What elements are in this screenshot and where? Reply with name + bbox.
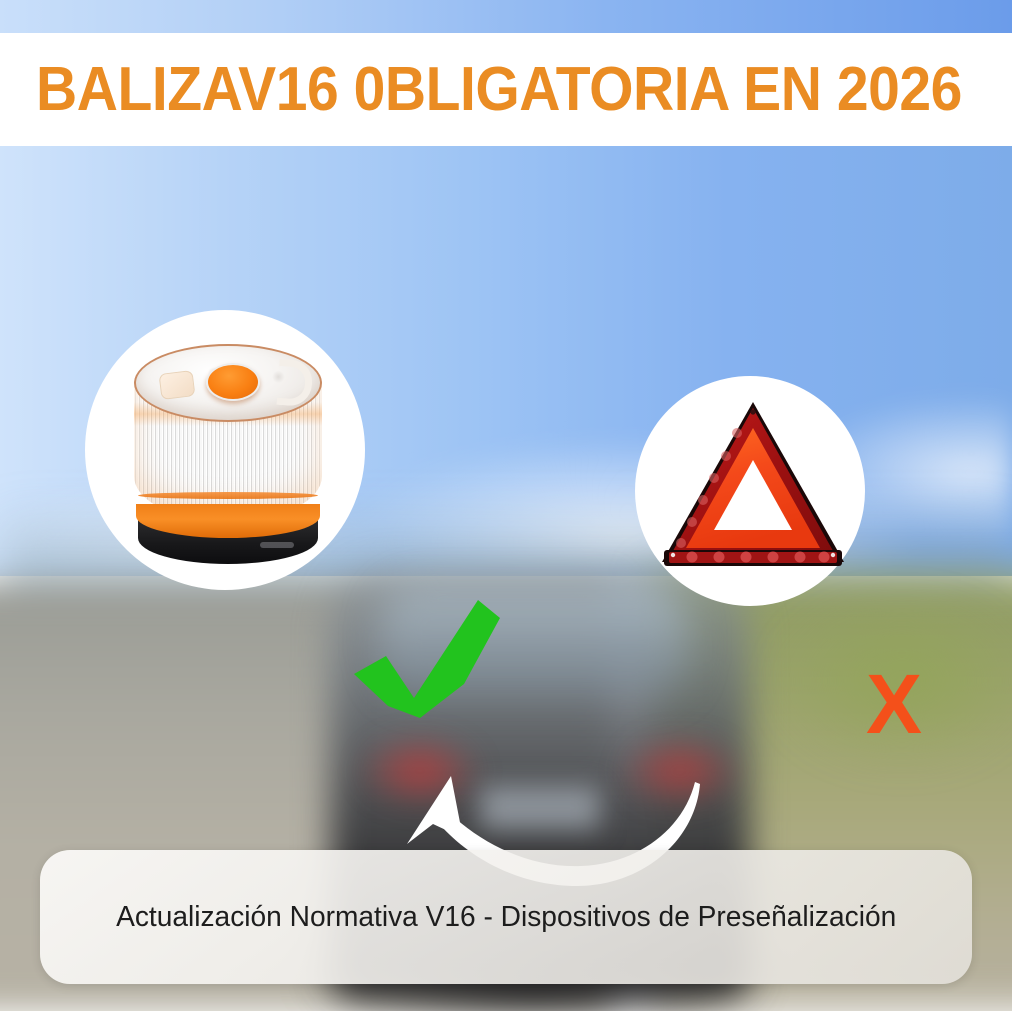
beacon-orange-line xyxy=(138,492,318,499)
caption-text: Actualización Normativa V16 - Dispositiv… xyxy=(116,901,896,934)
check-icon xyxy=(352,590,502,720)
beacon-power-button xyxy=(206,363,260,401)
caption-panel: Actualización Normativa V16 - Dispositiv… xyxy=(40,850,972,984)
beacon-sensor-chip xyxy=(159,370,196,400)
x-icon: X xyxy=(866,662,920,746)
v16-beacon-image xyxy=(128,344,328,569)
page-title: BALIZAV16 0BLIGATORIA EN 2026 xyxy=(36,59,962,121)
warning-triangle-image xyxy=(660,398,846,574)
top-accent-bar xyxy=(0,0,1012,33)
poster-canvas: BALIZAV16 0BLIGATORIA EN 2026 xyxy=(0,0,1012,1011)
beacon-base-vent xyxy=(260,542,294,548)
title-band: BALIZAV16 0BLIGATORIA EN 2026 xyxy=(0,33,1012,146)
